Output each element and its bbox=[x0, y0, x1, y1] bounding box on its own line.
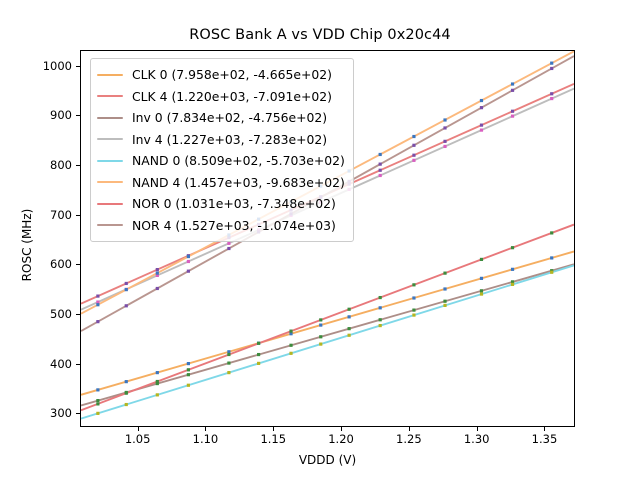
y-tick-label: 400 bbox=[26, 357, 72, 371]
chart-legend: CLK 0 (7.958e+02, -4.665e+02)CLK 4 (1.22… bbox=[90, 58, 354, 242]
data-point bbox=[289, 344, 292, 347]
data-point bbox=[187, 270, 190, 273]
data-point bbox=[156, 268, 159, 271]
data-point bbox=[227, 350, 230, 353]
data-point bbox=[480, 289, 483, 292]
data-point bbox=[550, 271, 553, 274]
legend-color-swatch bbox=[97, 74, 123, 76]
x-tick-mark bbox=[544, 427, 545, 431]
data-point bbox=[125, 282, 128, 285]
data-point bbox=[96, 320, 99, 323]
series-line bbox=[81, 251, 574, 394]
x-axis-label: VDDD (V) bbox=[80, 453, 575, 467]
data-point bbox=[412, 296, 415, 299]
legend-item[interactable]: NOR 4 (1.527e+03, -1.074e+03) bbox=[97, 215, 345, 237]
data-point bbox=[443, 304, 446, 307]
data-point bbox=[550, 256, 553, 259]
legend-label: CLK 0 (7.958e+02, -4.665e+02) bbox=[132, 67, 332, 82]
legend-color-swatch bbox=[97, 181, 123, 183]
data-point bbox=[443, 272, 446, 275]
data-point bbox=[480, 106, 483, 109]
data-point bbox=[257, 353, 260, 356]
data-point bbox=[511, 268, 514, 271]
legend-item[interactable]: NAND 0 (8.509e+02, -5.703e+02) bbox=[97, 150, 345, 172]
data-point bbox=[289, 330, 292, 333]
data-point bbox=[443, 140, 446, 143]
data-point bbox=[156, 287, 159, 290]
data-point bbox=[319, 324, 322, 327]
data-point bbox=[227, 371, 230, 374]
y-tick-label: 900 bbox=[26, 108, 72, 122]
series-line bbox=[81, 264, 574, 405]
data-point bbox=[96, 402, 99, 405]
data-point bbox=[96, 399, 99, 402]
data-point bbox=[319, 335, 322, 338]
legend-item[interactable]: CLK 0 (7.958e+02, -4.665e+02) bbox=[97, 64, 345, 86]
x-tick-label: 1.15 bbox=[243, 432, 303, 446]
data-point bbox=[412, 144, 415, 147]
data-point bbox=[187, 255, 190, 258]
x-tick-mark bbox=[409, 427, 410, 431]
data-point bbox=[96, 412, 99, 415]
y-tick-label: 300 bbox=[26, 406, 72, 420]
data-point bbox=[511, 89, 514, 92]
x-tick-mark bbox=[341, 427, 342, 431]
data-point bbox=[348, 327, 351, 330]
x-tick-label: 1.30 bbox=[447, 432, 507, 446]
legend-item[interactable]: CLK 4 (1.220e+03, -7.091e+02) bbox=[97, 86, 345, 108]
data-point bbox=[187, 368, 190, 371]
data-point bbox=[550, 62, 553, 65]
data-point bbox=[156, 371, 159, 374]
data-point bbox=[443, 118, 446, 121]
data-point bbox=[348, 334, 351, 337]
data-point bbox=[379, 169, 382, 172]
legend-color-swatch bbox=[97, 117, 123, 119]
data-point bbox=[227, 247, 230, 250]
data-point bbox=[187, 260, 190, 263]
data-point bbox=[511, 246, 514, 249]
y-axis-label: ROSC (MHz) bbox=[20, 165, 34, 325]
x-tick-mark bbox=[138, 427, 139, 431]
data-point bbox=[319, 343, 322, 346]
data-point bbox=[125, 380, 128, 383]
legend-label: Inv 4 (1.227e+03, -7.283e+02) bbox=[132, 132, 327, 147]
data-point bbox=[156, 393, 159, 396]
data-point bbox=[125, 288, 128, 291]
data-point bbox=[125, 392, 128, 395]
data-point bbox=[348, 315, 351, 318]
data-point bbox=[480, 129, 483, 132]
data-point bbox=[227, 361, 230, 364]
legend-color-swatch bbox=[97, 160, 123, 162]
legend-label: CLK 4 (1.220e+03, -7.091e+02) bbox=[132, 89, 332, 104]
legend-label: Inv 0 (7.834e+02, -4.756e+02) bbox=[132, 110, 327, 125]
legend-item[interactable]: NAND 4 (1.457e+03, -9.683e+02) bbox=[97, 172, 345, 194]
x-tick-mark bbox=[273, 427, 274, 431]
data-point bbox=[156, 271, 159, 274]
x-tick-label: 1.20 bbox=[311, 432, 371, 446]
data-point bbox=[412, 313, 415, 316]
data-point bbox=[511, 283, 514, 286]
data-point bbox=[412, 154, 415, 157]
data-point bbox=[96, 294, 99, 297]
legend-item[interactable]: NOR 0 (1.031e+03, -7.348e+02) bbox=[97, 193, 345, 215]
data-point bbox=[156, 380, 159, 383]
data-point bbox=[125, 304, 128, 307]
legend-color-swatch bbox=[97, 138, 123, 140]
data-point bbox=[443, 300, 446, 303]
legend-item[interactable]: Inv 0 (7.834e+02, -4.756e+02) bbox=[97, 107, 345, 129]
series-line bbox=[81, 265, 574, 418]
x-tick-label: 1.05 bbox=[108, 432, 168, 446]
legend-color-swatch bbox=[97, 224, 123, 226]
data-point bbox=[412, 283, 415, 286]
data-point bbox=[348, 308, 351, 311]
data-point bbox=[379, 174, 382, 177]
data-point bbox=[480, 99, 483, 102]
x-tick-label: 1.10 bbox=[175, 432, 235, 446]
data-point bbox=[227, 242, 230, 245]
legend-color-swatch bbox=[97, 95, 123, 97]
data-point bbox=[379, 306, 382, 309]
y-tick-label: 800 bbox=[26, 158, 72, 172]
data-point bbox=[480, 277, 483, 280]
data-point bbox=[443, 145, 446, 148]
matplotlib-figure: ROSC Bank A vs VDD Chip 0x20c44 ROSC (MH… bbox=[0, 0, 640, 480]
data-point bbox=[379, 296, 382, 299]
data-point bbox=[480, 124, 483, 127]
data-point bbox=[379, 153, 382, 156]
data-point bbox=[443, 126, 446, 129]
y-tick-label: 600 bbox=[26, 257, 72, 271]
data-point bbox=[511, 115, 514, 118]
data-point bbox=[227, 353, 230, 356]
data-point bbox=[289, 352, 292, 355]
data-point bbox=[96, 388, 99, 391]
x-tick-mark bbox=[477, 427, 478, 431]
legend-item[interactable]: Inv 4 (1.227e+03, -7.283e+02) bbox=[97, 129, 345, 151]
page-title: ROSC Bank A vs VDD Chip 0x20c44 bbox=[0, 27, 640, 43]
legend-color-swatch bbox=[97, 203, 123, 205]
legend-label: NAND 0 (8.509e+02, -5.703e+02) bbox=[132, 153, 345, 168]
data-point bbox=[511, 110, 514, 113]
data-point bbox=[550, 67, 553, 70]
x-tick-mark bbox=[205, 427, 206, 431]
data-point bbox=[187, 373, 190, 376]
x-tick-label: 1.25 bbox=[379, 432, 439, 446]
data-point bbox=[125, 403, 128, 406]
data-point bbox=[480, 292, 483, 295]
x-tick-label: 1.35 bbox=[514, 432, 574, 446]
y-tick-label: 1000 bbox=[26, 59, 72, 73]
data-point bbox=[379, 318, 382, 321]
data-point bbox=[379, 163, 382, 166]
data-point bbox=[187, 384, 190, 387]
legend-label: NOR 0 (1.031e+03, -7.348e+02) bbox=[132, 196, 336, 211]
y-tick-label: 700 bbox=[26, 208, 72, 222]
data-point bbox=[511, 82, 514, 85]
data-point bbox=[319, 318, 322, 321]
data-point bbox=[257, 342, 260, 345]
y-tick-label: 500 bbox=[26, 307, 72, 321]
series-line bbox=[81, 225, 574, 411]
data-point bbox=[96, 303, 99, 306]
data-point bbox=[412, 159, 415, 162]
data-point bbox=[187, 362, 190, 365]
data-point bbox=[550, 231, 553, 234]
data-point bbox=[257, 362, 260, 365]
data-point bbox=[550, 92, 553, 95]
legend-label: NAND 4 (1.457e+03, -9.683e+02) bbox=[132, 175, 345, 190]
data-point bbox=[480, 258, 483, 261]
data-point bbox=[379, 324, 382, 327]
legend-label: NOR 4 (1.527e+03, -1.074e+03) bbox=[132, 218, 336, 233]
data-point bbox=[443, 287, 446, 290]
data-point bbox=[412, 309, 415, 312]
data-point bbox=[412, 135, 415, 138]
data-point bbox=[550, 97, 553, 100]
